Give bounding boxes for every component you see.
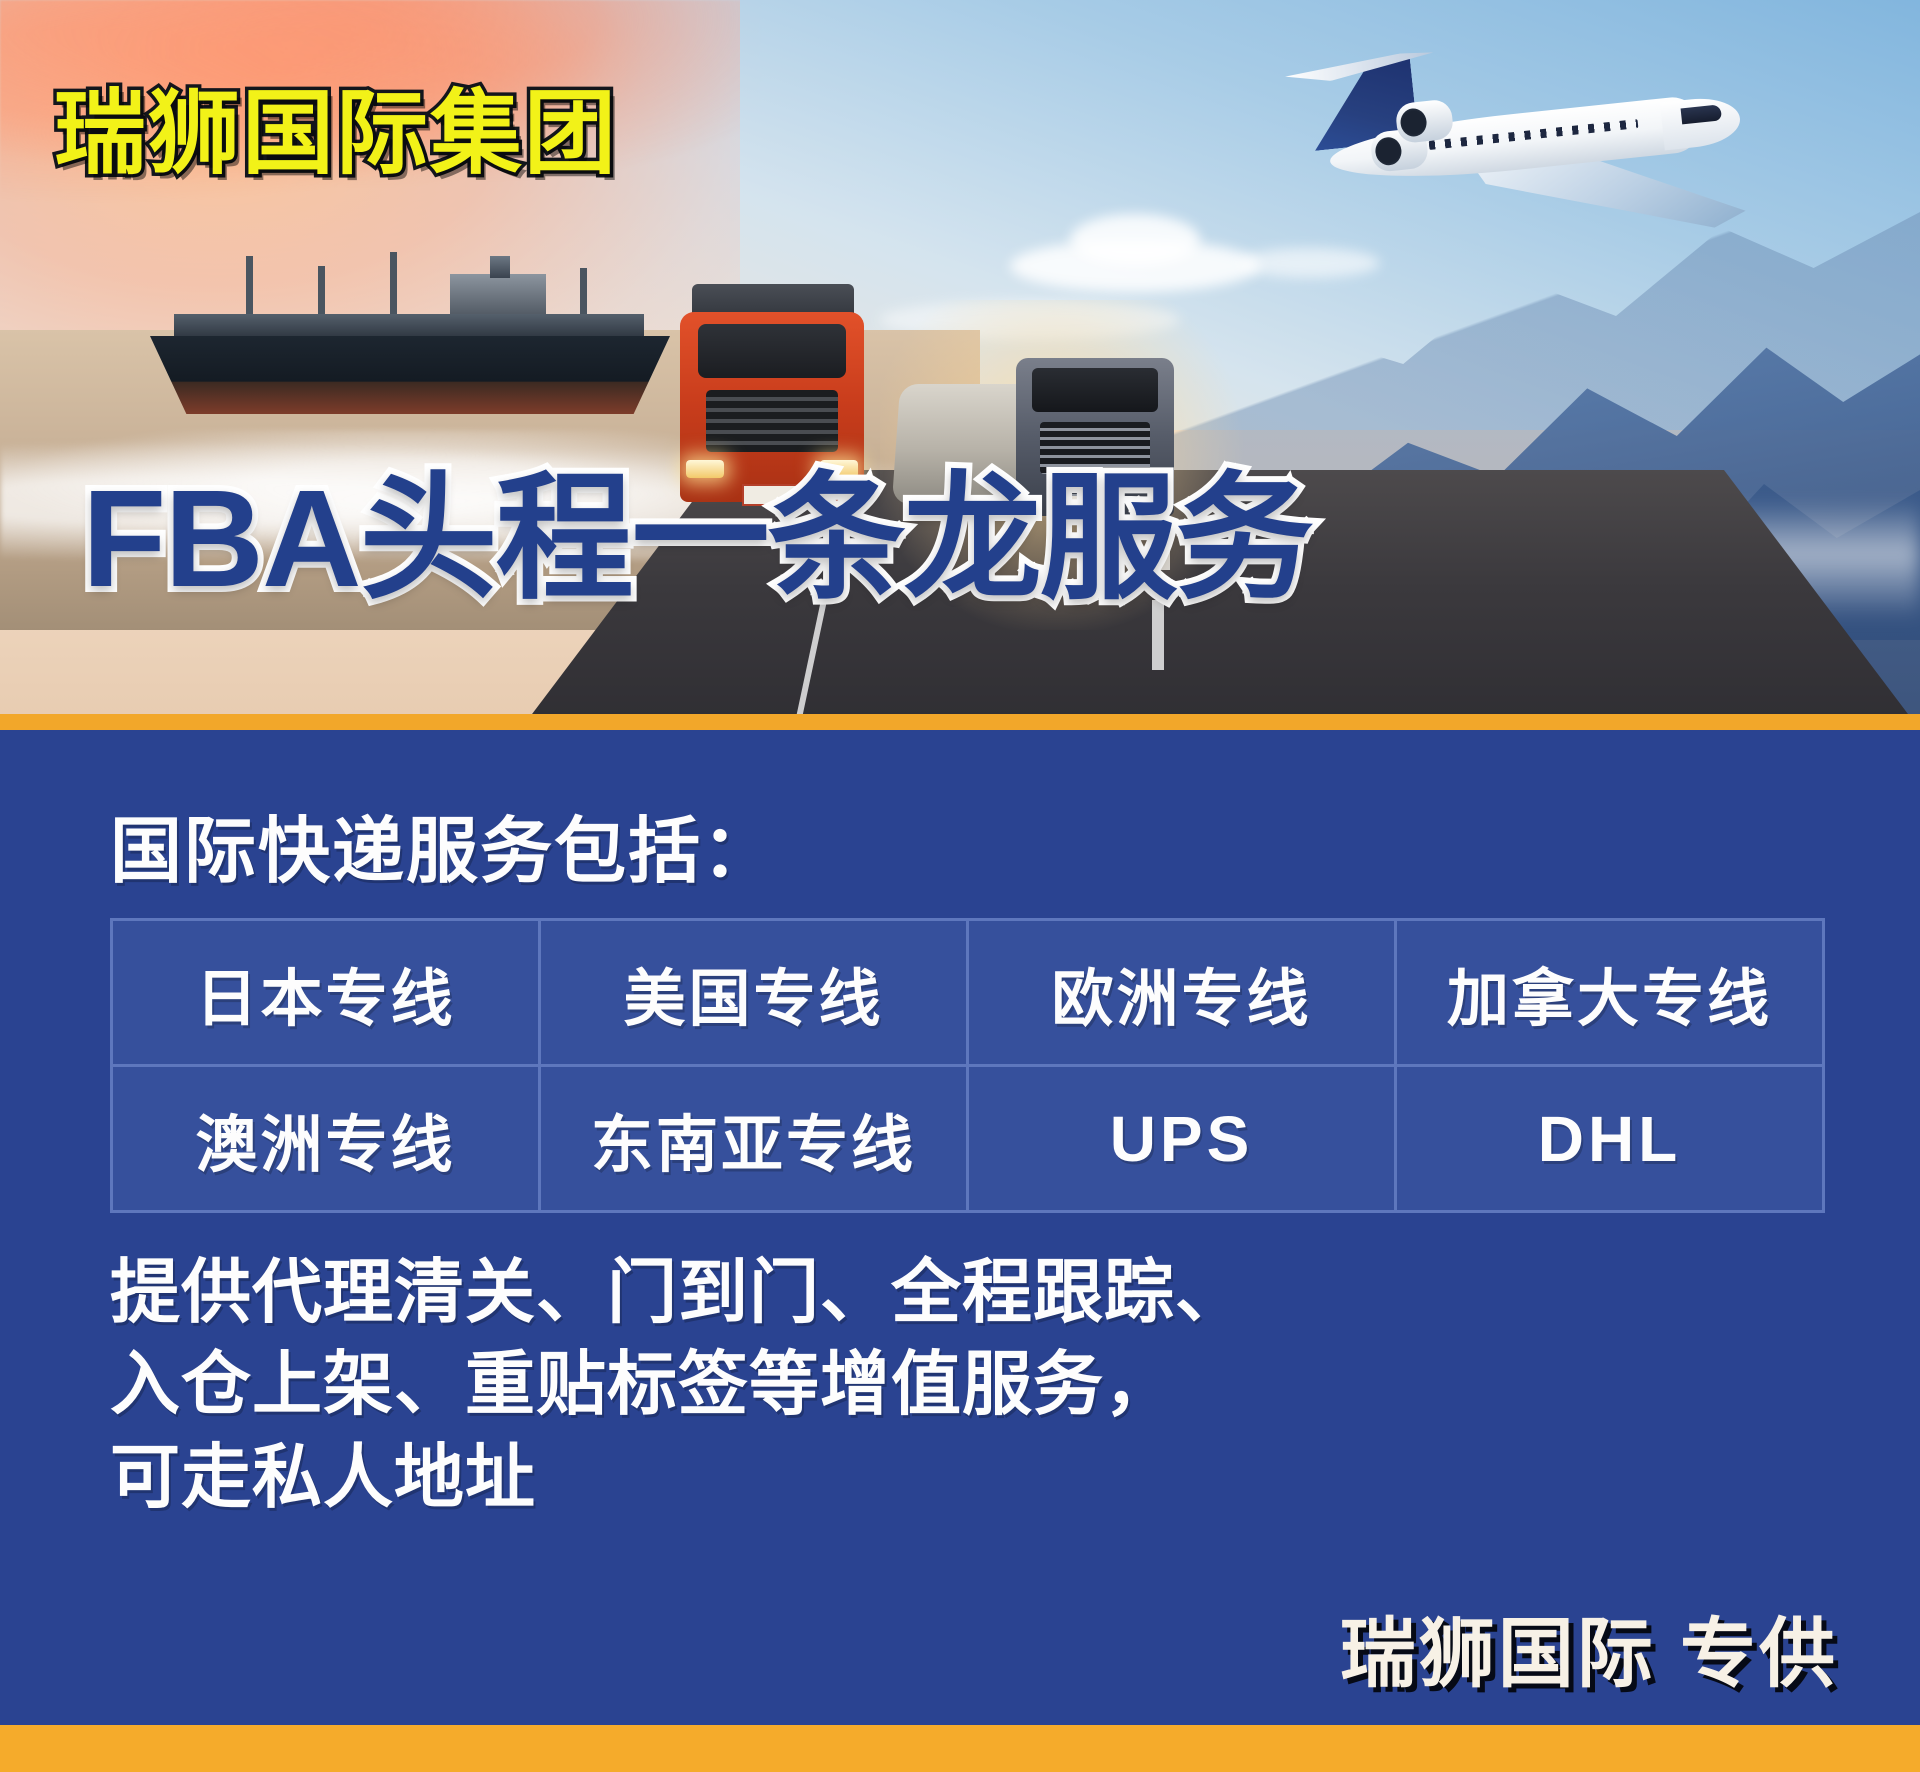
ship-crane (318, 266, 325, 320)
cloud-icon (1070, 214, 1200, 266)
poster-root: 瑞狮国际集团 FBA头程一条龙服务 国际快递服务包括： 日本专线 美国专线 欧洲… (0, 0, 1920, 1772)
ship-crane (390, 252, 397, 320)
hero-banner: 瑞狮国际集团 FBA头程一条龙服务 (0, 0, 1920, 730)
table-row: 澳洲专线 东南亚专线 UPS DHL (112, 1066, 1824, 1212)
footer-accent-bar (0, 1725, 1920, 1772)
ship-crane (580, 268, 587, 320)
table-row: 日本专线 美国专线 欧洲专线 加拿大专线 (112, 920, 1824, 1066)
ship-hull (150, 336, 670, 414)
section-heading: 国际快递服务包括： (110, 792, 776, 897)
company-logo: 瑞狮国际集团 (54, 88, 618, 180)
page-title: FBA头程一条龙服务 (82, 470, 1312, 608)
service-cell-ca[interactable]: 加拿大专线 (1396, 920, 1824, 1066)
truck-windshield (698, 324, 846, 378)
ship-funnel (490, 256, 510, 278)
feature-line: 入仓上架、重贴标签等增值服务， (110, 1338, 1246, 1430)
brand-signature: 瑞狮国际 专供 (1340, 1592, 1838, 1702)
truck-grille (706, 390, 838, 452)
feature-line: 可走私人地址 (110, 1431, 1246, 1523)
service-cell-au[interactable]: 澳洲专线 (112, 1066, 540, 1212)
info-panel: 国际快递服务包括： 日本专线 美国专线 欧洲专线 加拿大专线 澳洲专线 东南亚专… (0, 730, 1920, 1725)
cargo-ship-icon (150, 250, 710, 430)
service-cell-dhl[interactable]: DHL (1396, 1066, 1824, 1212)
feature-line: 提供代理清关、门到门、全程跟踪、 (110, 1246, 1246, 1338)
hero-accent-rule (0, 714, 1920, 730)
service-lines-table: 日本专线 美国专线 欧洲专线 加拿大专线 澳洲专线 东南亚专线 UPS DHL (110, 918, 1825, 1213)
service-cell-sea[interactable]: 东南亚专线 (540, 1066, 968, 1212)
value-added-services: 提供代理清关、门到门、全程跟踪、 入仓上架、重贴标签等增值服务， 可走私人地址 (110, 1246, 1246, 1523)
service-cell-eu[interactable]: 欧洲专线 (968, 920, 1396, 1066)
service-cell-us[interactable]: 美国专线 (540, 920, 968, 1066)
ship-crane (246, 256, 253, 320)
service-cell-ups[interactable]: UPS (968, 1066, 1396, 1212)
service-cell-jp[interactable]: 日本专线 (112, 920, 540, 1066)
truck-windshield (1032, 368, 1158, 412)
